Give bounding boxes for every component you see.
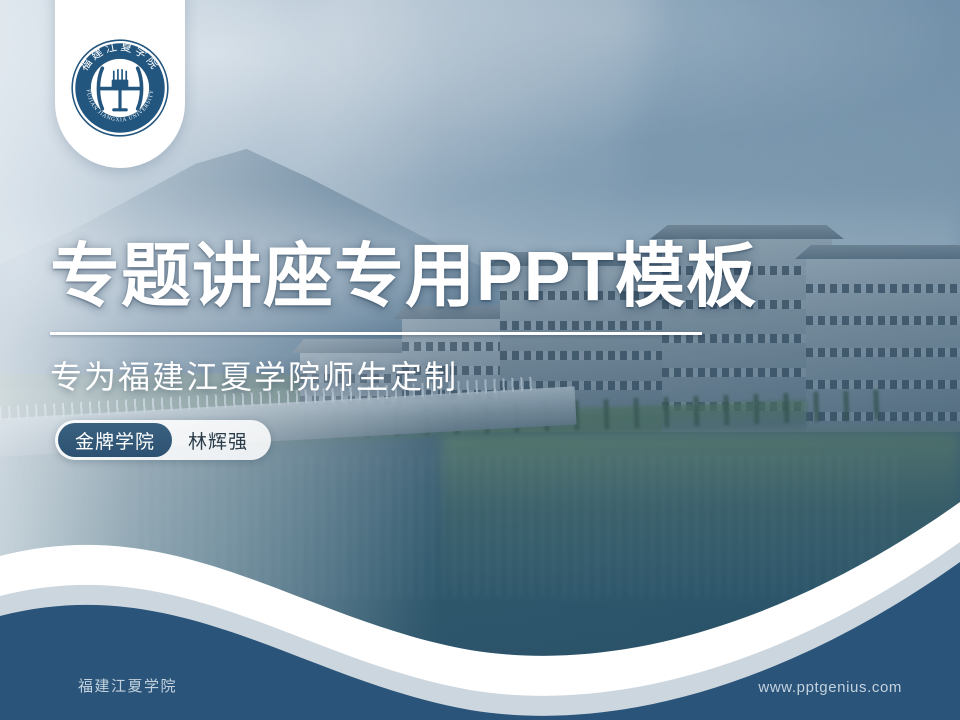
page-title: 专题讲座专用PPT模板 bbox=[50, 240, 757, 314]
credit-badge-group: 金牌学院 林辉强 bbox=[55, 420, 271, 460]
footer-website-url[interactable]: www.pptgenius.com bbox=[758, 679, 902, 696]
university-logo-badge: 福建江夏学院 FUJIAN JIANGXIA UNIVERSITY bbox=[55, 0, 185, 168]
footer-school-name: 福建江夏学院 bbox=[78, 675, 177, 696]
title-divider bbox=[50, 332, 702, 335]
university-seal-icon: 福建江夏学院 FUJIAN JIANGXIA UNIVERSITY bbox=[68, 36, 172, 140]
page-subtitle: 专为福建江夏学院师生定制 bbox=[50, 352, 458, 398]
badge-gold-academy[interactable]: 金牌学院 bbox=[58, 423, 172, 457]
presentation-title-slide: 福建江夏学院 FUJIAN JIANGXIA UNIVERSITY 专题讲座专用… bbox=[0, 0, 960, 720]
badge-author-name[interactable]: 林辉强 bbox=[172, 423, 267, 457]
